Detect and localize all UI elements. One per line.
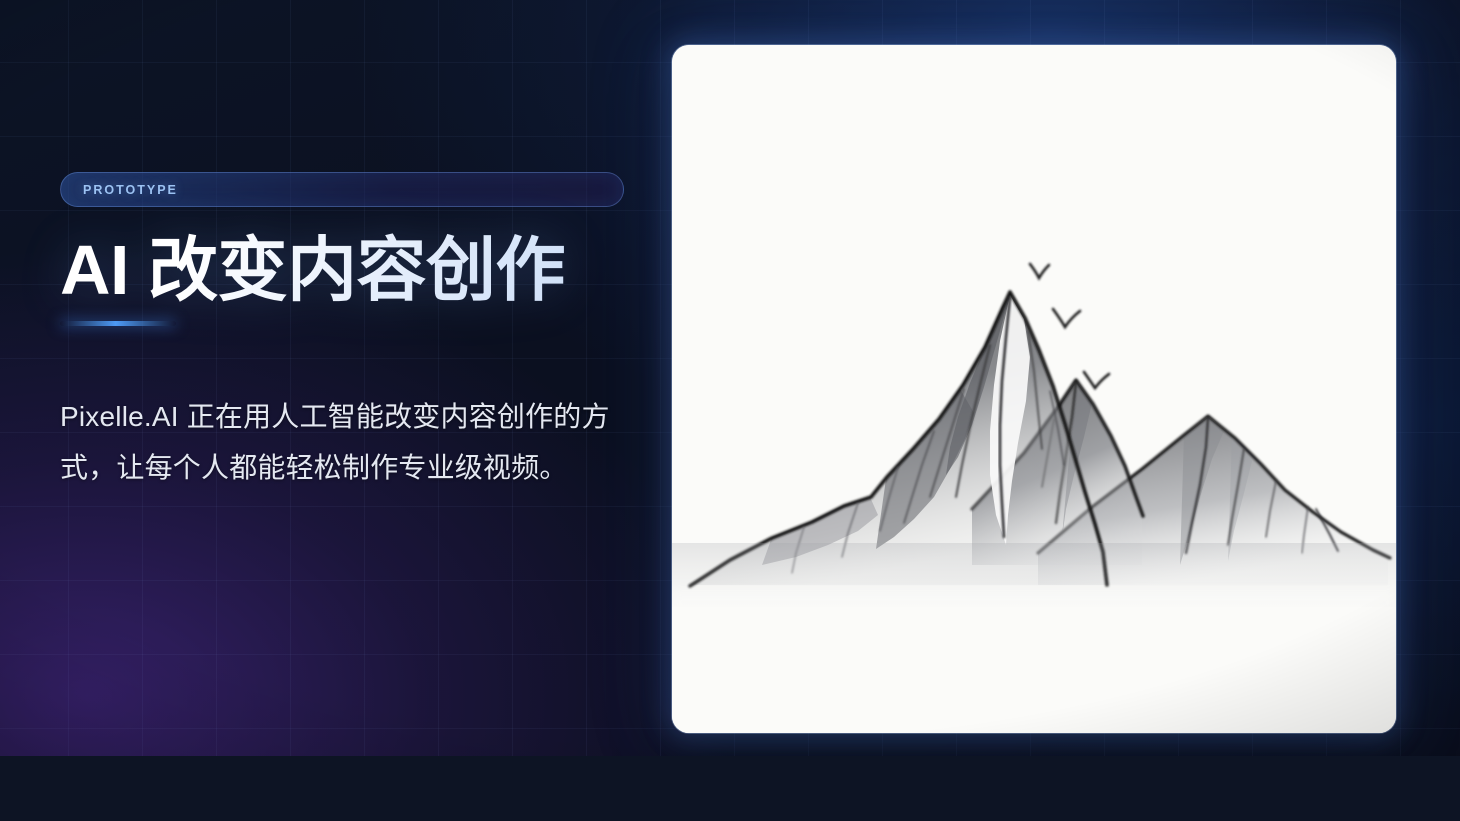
media-card[interactable] [672,45,1396,733]
prototype-badge-label: PROTOTYPE [83,183,178,197]
mountain-range-ink-sketch-image [672,45,1396,733]
prototype-badge[interactable]: PROTOTYPE [60,172,624,207]
letterbox-bottom-band [0,756,1460,821]
base-mist [672,543,1396,733]
text-column: PROTOTYPE AI 改变内容创作 Pixelle.AI 正在用人工智能改变… [60,172,630,494]
page-title: AI 改变内容创作 [60,233,630,307]
headline-accent-bar [60,321,176,326]
body-paragraph: Pixelle.AI 正在用人工智能改变内容创作的方式，让每个人都能轻松制作专业… [60,392,626,494]
slide-root: PROTOTYPE AI 改变内容创作 Pixelle.AI 正在用人工智能改变… [0,0,1460,821]
slide-canvas: PROTOTYPE AI 改变内容创作 Pixelle.AI 正在用人工智能改变… [0,0,1460,756]
